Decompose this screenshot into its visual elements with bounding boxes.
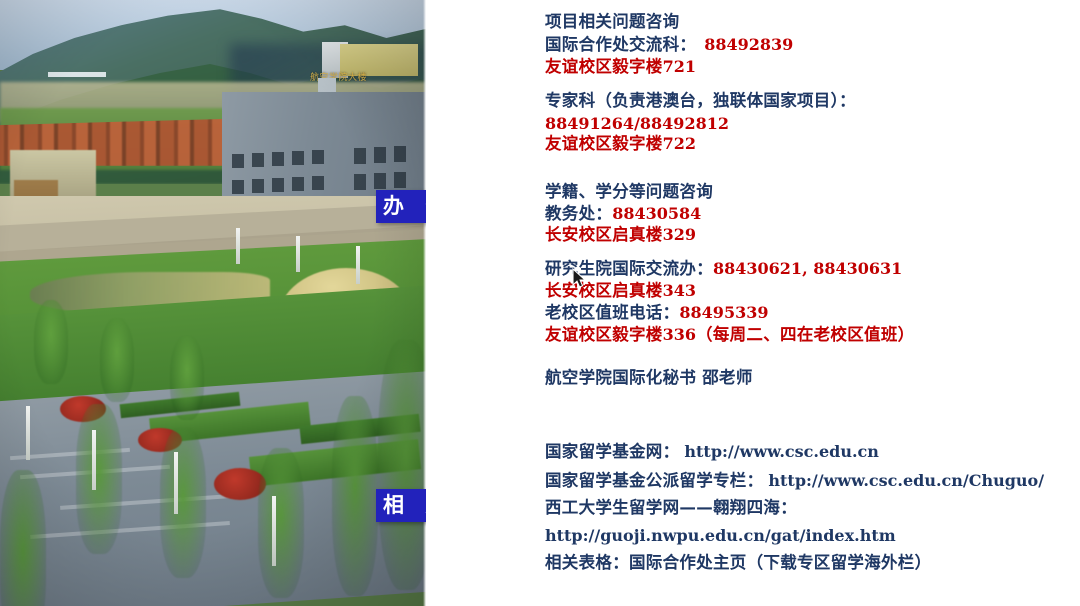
phone-number: 88492839 xyxy=(704,35,793,54)
line-nwpu-study-abroad-title: 西工大学生留学网——翱翔四海： xyxy=(545,500,797,517)
text-seg: 相关表格：国际合作处主页（下载专区留学海外栏） xyxy=(545,553,931,572)
text-seg: 学籍、学分等问题咨询 xyxy=(545,182,713,201)
line-old-campus-duty-phone: 老校区值班电话：88495339 xyxy=(545,305,768,322)
text-seg: 国家留学基金网： xyxy=(545,442,679,461)
campus-photo: 航空学院大楼 xyxy=(0,0,426,606)
text-seg: 教务处： xyxy=(545,204,612,223)
haze-streak xyxy=(48,72,106,77)
url: http://www.csc.edu.cn xyxy=(684,442,878,461)
line-old-campus-duty-address: 友谊校区毅字楼336（每周二、四在老校区值班） xyxy=(545,327,914,344)
link-csc-chuguo[interactable]: 国家留学基金公派留学专栏：http://www.csc.edu.cn/Chugu… xyxy=(545,473,1044,490)
line-grad-school-phone: 研究生院国际交流办：88430621, 88430631 xyxy=(545,261,902,278)
url: http://www.csc.edu.cn/Chuguo/ xyxy=(768,471,1044,490)
link-nwpu-guoji[interactable]: http://guoji.nwpu.edu.cn/gat/index.htm xyxy=(545,528,896,544)
line-academic-affairs-phone: 教务处：88430584 xyxy=(545,206,701,223)
text-seg: 长安校区启真楼 xyxy=(545,225,663,244)
text-seg: 国际合作处交流科： xyxy=(545,35,696,54)
line-project-inquiry-title: 项目相关问题咨询 xyxy=(545,14,679,31)
text-seg: 西工大学生留学网——翱翔四海： xyxy=(545,498,797,517)
text-seg: 专家科（负责港澳台，独联体国家项目）： xyxy=(545,91,856,110)
room-number: 722 xyxy=(663,134,696,153)
duty-note: （每周二、四在老校区值班） xyxy=(696,325,914,344)
room-number: 336 xyxy=(663,325,696,344)
line-expert-division-phones: 88491264/88492812 xyxy=(545,116,729,132)
line-grad-school-address: 长安校区启真楼343 xyxy=(545,283,696,300)
phone-number: 88430621, 88430631 xyxy=(713,259,902,278)
room-number: 343 xyxy=(663,281,696,300)
info-panel: 项目相关问题咨询 国际合作处交流科：88492839 友谊校区毅字楼721 专家… xyxy=(426,0,1080,606)
text-seg: 友谊校区毅字楼 xyxy=(545,325,663,344)
room-number: 721 xyxy=(663,57,696,76)
link-csc-home[interactable]: 国家留学基金网：http://www.csc.edu.cn xyxy=(545,444,879,461)
url: http://guoji.nwpu.edu.cn/gat/index.htm xyxy=(545,526,896,545)
line-registration-title: 学籍、学分等问题咨询 xyxy=(545,184,713,201)
text-seg: 友谊校区毅字楼 xyxy=(545,134,663,153)
line-expert-division-title: 专家科（负责港澳台，独联体国家项目）： xyxy=(545,93,856,110)
phone-number: 88430584 xyxy=(612,204,701,223)
text-seg: 项目相关问题咨询 xyxy=(545,12,679,31)
text-seg: 国家留学基金公派留学专栏： xyxy=(545,471,763,490)
phone-number: 88495339 xyxy=(679,303,768,322)
line-expert-division-address: 友谊校区毅字楼722 xyxy=(545,136,696,153)
text-seg: 长安校区启真楼 xyxy=(545,281,663,300)
line-intl-office-phone: 国际合作处交流科：88492839 xyxy=(545,37,793,54)
slide-root: 航空学院大楼 xyxy=(0,0,1080,606)
room-number: 329 xyxy=(663,225,696,244)
text-seg: 老校区值班电话： xyxy=(545,303,679,322)
phone-number: 88491264/88492812 xyxy=(545,114,729,133)
line-related-forms: 相关表格：国际合作处主页（下载专区留学海外栏） xyxy=(545,555,931,572)
text-seg: 研究生院国际交流办： xyxy=(545,259,713,278)
line-aeronautics-secretary: 航空学院国际化秘书 邵老师 xyxy=(545,370,753,387)
text-seg: 友谊校区毅字楼 xyxy=(545,57,663,76)
text-seg: 航空学院国际化秘书 邵老师 xyxy=(545,368,753,387)
line-intl-office-address: 友谊校区毅字楼721 xyxy=(545,59,696,76)
line-academic-affairs-address: 长安校区启真楼329 xyxy=(545,227,696,244)
